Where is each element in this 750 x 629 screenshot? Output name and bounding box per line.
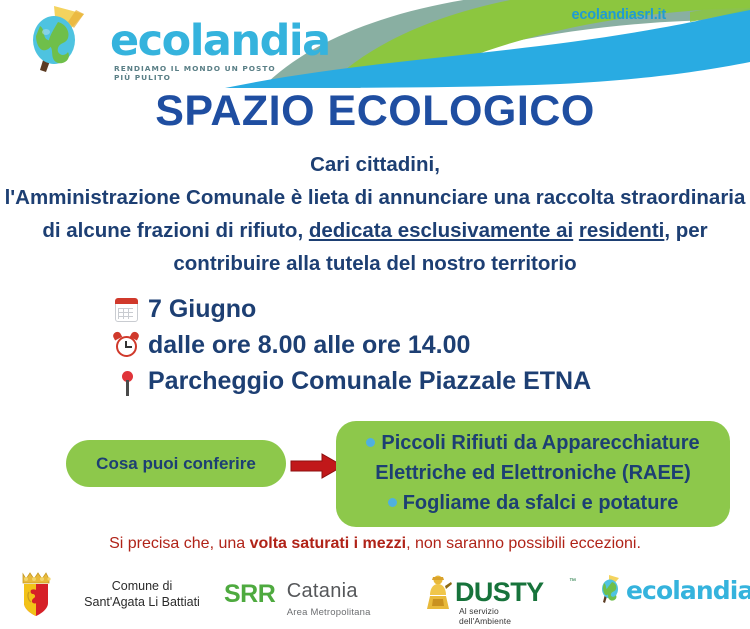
ecolandia-wordmark: ecolandia [110,20,330,63]
header-banner: ecolandiasrl.it ecolandia RENDIAMO IL MO… [0,0,750,88]
dusty-trademark-symbol: ™ [569,578,576,585]
ecolandia-footer-logo: ecolandia [600,574,626,621]
comune-line-1: Comune di [62,578,222,594]
event-details: 7 Giugno dalle ore 8.00 alle ore 14.00 P… [112,292,591,400]
announcement-line-3: di alcune frazioni di rifiuto, dedicata … [0,214,750,247]
line3-underline-a: dedicata esclusivamente ai [309,219,573,242]
announcement-line-2: l'Amministrazione Comunale è lieta di an… [0,181,750,214]
site-url-text: ecolandiasrl.it [571,7,666,23]
accepted-item-line-3: Fogliame da sfalci e potature [336,488,730,518]
detail-location-text: Parcheggio Comunale Piazzale ETNA [148,367,591,396]
pill-label: Cosa puoi conferire [96,454,256,474]
announcement-text: Cari cittadini, l'Amministrazione Comuna… [0,148,750,280]
ecolandia-tagline: RENDIAMO IL MONDO UN POSTO PIÙ PULITO [114,64,284,82]
ecolandia-logo: ecolandia RENDIAMO IL MONDO UN POSTO PIÙ… [24,4,284,84]
detail-row-location: Parcheggio Comunale Piazzale ETNA [112,364,591,399]
comune-name-text: Comune di Sant'Agata Li Battiati [62,578,222,610]
cosa-puoi-conferire-pill: Cosa puoi conferire [66,440,286,487]
greeting-line: Cari cittadini, [0,148,750,181]
line3-underline-b: residenti [579,219,664,242]
accepted-waste-box: Piccoli Rifiuti da Apparecchiature Elett… [336,421,730,527]
detail-row-time: dalle ore 8.00 alle ore 14.00 [112,328,591,363]
accepted-item-text-3: Fogliame da sfalci e potature [403,492,679,514]
calendar-icon [112,295,142,325]
location-pin-icon [112,367,142,397]
srr-name-text: Catania [287,580,358,602]
accepted-item-line-2: Elettriche ed Elettroniche (RAEE) [336,458,730,488]
dusty-mascot-icon [423,573,453,611]
detail-row-date: 7 Giugno [112,292,591,327]
page-title: SPAZIO ECOLOGICO [0,87,750,136]
ecolandia-footer-wordmark: ecolandia [626,576,750,605]
bullet-icon [388,498,397,507]
bullet-icon [366,438,375,447]
comune-line-2: Sant'Agata Li Battiati [62,594,222,610]
footer-logos: Comune di Sant'Agata Li Battiati SRR Cat… [0,566,750,629]
alarm-clock-icon [112,331,142,361]
poster-canvas: ecolandiasrl.it ecolandia RENDIAMO IL MO… [0,0,750,629]
detail-date-text: 7 Giugno [148,295,256,324]
disclaimer-part-2: , non saranno possibili eccezioni. [406,535,641,552]
srr-subtitle-text: Area Metropolitana [287,607,371,618]
line3-pre: di alcune frazioni di rifiuto, [42,219,309,242]
srr-catania-logo: SRR Catania Area Metropolitana [224,580,371,620]
dusty-tagline-text: Al servizio dell'Ambiente [459,606,511,626]
srr-text-block: Catania Area Metropolitana [287,581,371,620]
globe-brush-icon [24,4,110,84]
srr-brand-text: SRR [224,580,275,609]
accepted-item-line-1: Piccoli Rifiuti da Apparecchiature [336,421,730,458]
comune-coat-of-arms-icon [18,570,54,618]
disclaimer-text: Si precisa che, una volta saturati i mez… [0,535,750,553]
detail-time-text: dalle ore 8.00 alle ore 14.00 [148,331,470,360]
line3-post: , per [664,219,707,242]
accepted-item-text-1: Piccoli Rifiuti da Apparecchiature [381,432,699,454]
dusty-brand-text: DUSTY [455,577,544,608]
globe-brush-small-icon [600,574,626,616]
announcement-line-4: contribuire alla tutela del nostro terri… [0,247,750,280]
disclaimer-part-1: Si precisa che, una [109,535,250,552]
disclaimer-bold: volta saturati i mezzi [250,535,407,552]
